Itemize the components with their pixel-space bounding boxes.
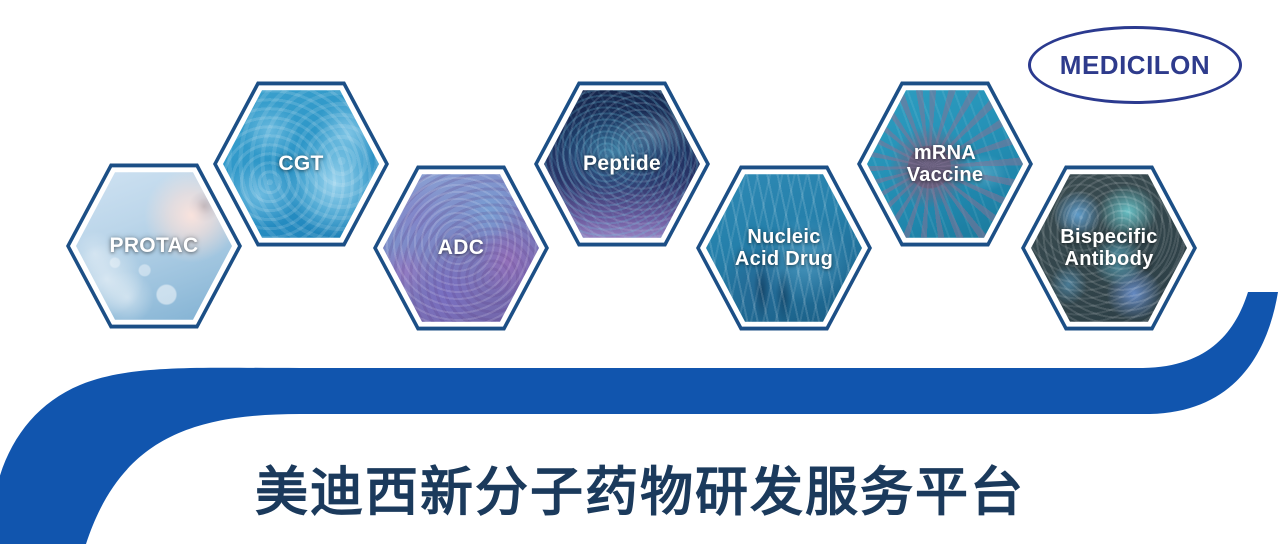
logo-wordmark: MEDICILON	[1028, 26, 1242, 104]
medicilon-logo: MEDICILON	[1028, 26, 1242, 104]
page-title-text: 美迪西新分子药物研发服务平台	[255, 450, 1025, 526]
hexagon-adc[interactable]: ADC	[373, 163, 549, 333]
hexagon-cgt[interactable]: CGT	[213, 79, 389, 249]
banner-canvas: MEDICILON PROTAC CGT ADC	[0, 0, 1280, 544]
hexagon-nucleic-acid-drug[interactable]: Nucleic Acid Drug	[696, 163, 872, 333]
hexagon-peptide[interactable]: Peptide	[534, 79, 710, 249]
hexagon-mrna-vaccine[interactable]: mRNA Vaccine	[857, 79, 1033, 249]
hexagon-bispecific-antibody[interactable]: Bispecific Antibody	[1021, 163, 1197, 333]
page-title: 美迪西新分子药物研发服务平台	[0, 450, 1280, 526]
